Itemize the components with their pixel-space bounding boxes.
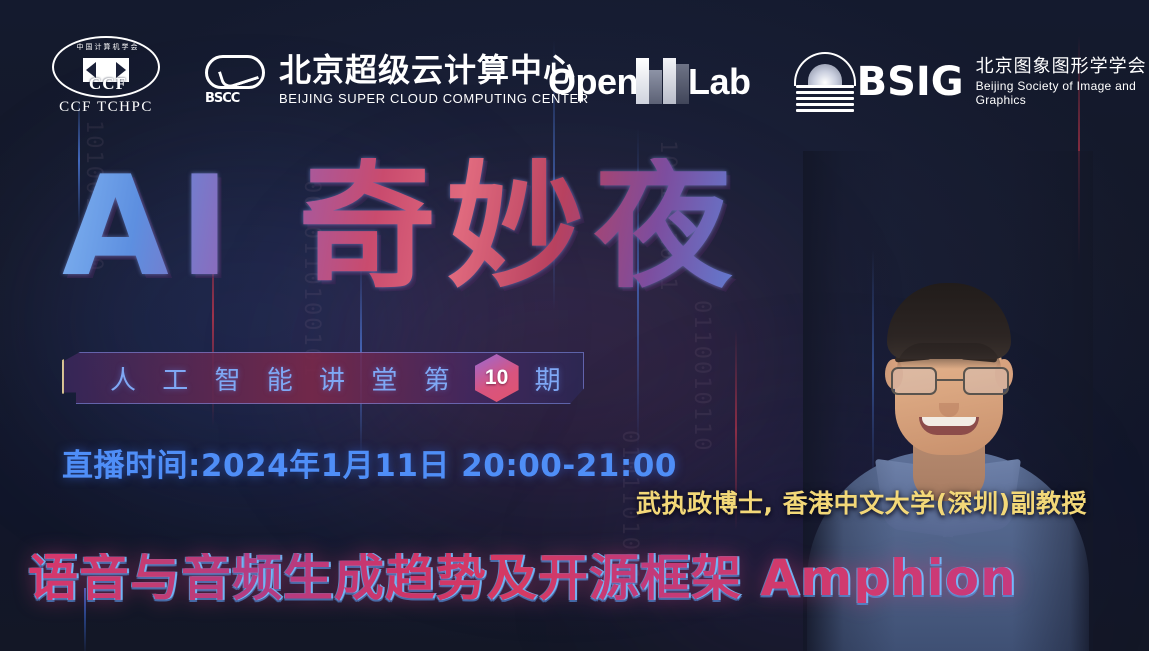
bscc-name-en: BEIJING SUPER CLOUD COMPUTING CENTER [279,91,589,106]
bscc-cloud-icon: BSCC [205,55,269,106]
banner-suffix: 期 [535,360,570,397]
bsig-emblem-icon [790,50,847,114]
episode-number-badge: 10 [475,354,519,402]
bscc-logo: BSCC 北京超级云计算中心 BEIJING SUPER CLOUD COMPU… [205,54,589,106]
main-title: AI 奇妙夜 [62,158,742,296]
openmmlab-mm-icon [636,56,690,104]
ccf-sub-label: CCF TCHPC [59,99,153,116]
bsig-name-en: Beijing Society of Image and Graphics [976,79,1149,107]
bsig-wordmark: BSIG [857,62,964,102]
bscc-name-cn: 北京超级云计算中心 [279,54,589,86]
background-digits-3: 0110010110 [690,300,713,452]
sponsor-logo-bar: 中国计算机学会 CCF CCF TCHPC BSCC 北京超级云计算中心 BEI… [0,34,1149,126]
ccf-wordmark: CCF [54,74,162,94]
bsig-name-cn: 北京图象图形学学会 [976,57,1149,77]
bsig-logo: BSIG 北京图象图形学学会 Beijing Society of Image … [790,50,1149,114]
ccf-arc-label: 中国计算机学会 [54,42,162,52]
openmmlab-prefix: Open [548,61,638,102]
ccf-emblem-icon: 中国计算机学会 CCF [52,36,160,98]
bscc-abbr-label: BSCC [205,91,269,106]
speaker-name-text: 武执政博士, 香港中文大学(深圳)副教授 [636,484,1087,520]
banner-content: 人 工 智 能 讲 堂 第 10 期 [110,352,570,404]
poster-canvas: 0010110100101 1001011001 0110010110 1010… [0,0,1149,651]
ccf-tchpc-logo: 中国计算机学会 CCF CCF TCHPC [52,36,160,116]
banner-label: 人 工 智 能 讲 堂 第 [110,360,459,397]
topic-title: 语音与音频生成趋势及开源框架 Amphion [28,553,1017,603]
live-time-text: 直播时间:2024年1月11日 20:00-21:00 [62,440,677,485]
episode-banner: 人 工 智 能 讲 堂 第 10 期 [62,352,584,404]
episode-number: 10 [485,366,508,390]
openmmlab-suffix: Lab [688,61,751,102]
openmmlab-logo: OpenLab [548,56,751,104]
